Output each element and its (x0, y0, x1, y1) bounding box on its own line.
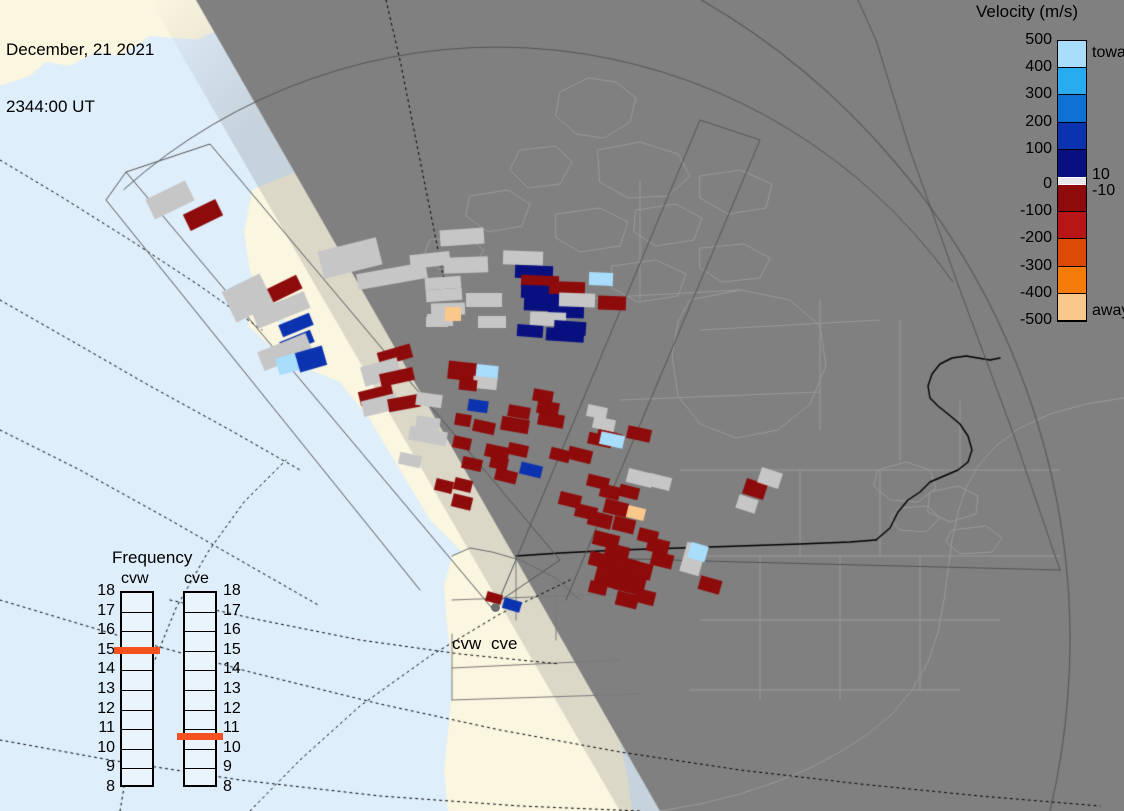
frequency-tick-cve-15: 15 (223, 641, 241, 659)
colorbar-band-6 (1058, 212, 1086, 239)
frequency-tick-cvw-11: 11 (93, 719, 115, 737)
frequency-cell (185, 671, 215, 691)
superdarn-velocity-map: December, 21 2021 2344:00 UT Velocity (m… (0, 0, 1124, 811)
colorbar-tick--300: -300 (1020, 257, 1052, 275)
frequency-cell (185, 613, 215, 633)
colorbar-band-3 (1058, 123, 1086, 150)
colorbar-tick--100: -100 (1020, 202, 1052, 220)
frequency-cell (185, 750, 215, 770)
colorbar-band-8 (1058, 267, 1086, 294)
colorbar-tick--400: -400 (1020, 284, 1052, 302)
frequency-tick-cvw-9: 9 (93, 758, 115, 776)
frequency-tick-cvw-16: 16 (93, 621, 115, 639)
colorbar-away-label: away (1092, 302, 1124, 320)
frequency-tick-cve-13: 13 (223, 680, 241, 698)
frequency-cell (122, 750, 152, 770)
frequency-tick-cvw-10: 10 (93, 739, 115, 757)
frequency-cell (122, 671, 152, 691)
frequency-tick-cve-9: 9 (223, 758, 232, 776)
frequency-cell (122, 730, 152, 750)
frequency-marker-cve (177, 733, 223, 740)
colorbar-tick-300: 300 (1025, 85, 1052, 103)
site-label-cve: cve (491, 634, 517, 654)
frequency-column-cvw (120, 591, 154, 787)
frequency-cell (185, 769, 215, 789)
frequency-cell (185, 652, 215, 672)
frequency-tick-cvw-12: 12 (93, 700, 115, 718)
velocity-colorbar: Velocity (m/s) 5004003002001000-100-200-… (972, 0, 1124, 340)
frequency-tick-cve-16: 16 (223, 621, 241, 639)
frequency-tick-cvw-17: 17 (93, 602, 115, 620)
colorbar-band-9 (1058, 294, 1086, 321)
timestamp-date: December, 21 2021 (6, 40, 154, 59)
colorbar-band-0 (1058, 41, 1086, 68)
colorbar-tick--500: -500 (1020, 311, 1052, 329)
colorbar-band-1 (1058, 68, 1086, 95)
frequency-column-cve (183, 591, 217, 787)
frequency-tick-cve-8: 8 (223, 778, 232, 796)
timestamp-time: 2344:00 UT (6, 97, 154, 116)
colorbar-tick-500: 500 (1025, 31, 1052, 49)
frequency-cell (185, 593, 215, 613)
timestamp: December, 21 2021 2344:00 UT (6, 2, 154, 154)
colorbar-strip (1057, 40, 1087, 322)
colorbar-band-4 (1058, 150, 1086, 177)
colorbar-tick-0: 0 (1043, 175, 1052, 193)
frequency-tick-cvw-8: 8 (93, 778, 115, 796)
frequency-cell (122, 652, 152, 672)
colorbar-minus-ten-label: -10 (1092, 182, 1115, 200)
colorbar-tick-100: 100 (1025, 140, 1052, 158)
colorbar-title: Velocity (m/s) (976, 2, 1124, 22)
frequency-column-name-cvw: cvw (121, 570, 149, 588)
frequency-cell (185, 691, 215, 711)
colorbar-toward-label: toward (1092, 44, 1124, 62)
frequency-tick-cve-14: 14 (223, 660, 241, 678)
colorbar-zero-band (1058, 177, 1086, 185)
frequency-legend: Frequency cvw18171615141312111098cve1817… (95, 548, 235, 793)
frequency-cell (122, 593, 152, 613)
frequency-cell (185, 711, 215, 731)
frequency-tick-cve-17: 17 (223, 602, 241, 620)
colorbar-tick--200: -200 (1020, 229, 1052, 247)
colorbar-tick-200: 200 (1025, 113, 1052, 131)
frequency-cell (185, 632, 215, 652)
colorbar-band-5 (1058, 185, 1086, 212)
frequency-marker-cvw (114, 647, 160, 654)
frequency-column-name-cve: cve (184, 570, 209, 588)
colorbar-tick-400: 400 (1025, 58, 1052, 76)
frequency-tick-cve-10: 10 (223, 739, 241, 757)
frequency-tick-cvw-15: 15 (93, 641, 115, 659)
frequency-cell (122, 691, 152, 711)
frequency-cell (122, 613, 152, 633)
radar-site-marker (491, 603, 500, 612)
colorbar-band-7 (1058, 239, 1086, 266)
frequency-tick-cve-18: 18 (223, 582, 241, 600)
frequency-tick-cvw-18: 18 (93, 582, 115, 600)
frequency-tick-cve-12: 12 (223, 700, 241, 718)
site-label-cvw: cvw (452, 634, 481, 654)
frequency-cell (122, 769, 152, 789)
colorbar-band-2 (1058, 95, 1086, 122)
frequency-tick-cvw-14: 14 (93, 660, 115, 678)
frequency-tick-cvw-13: 13 (93, 680, 115, 698)
frequency-tick-cve-11: 11 (223, 719, 240, 737)
frequency-legend-title: Frequency (112, 548, 192, 568)
frequency-cell (122, 711, 152, 731)
